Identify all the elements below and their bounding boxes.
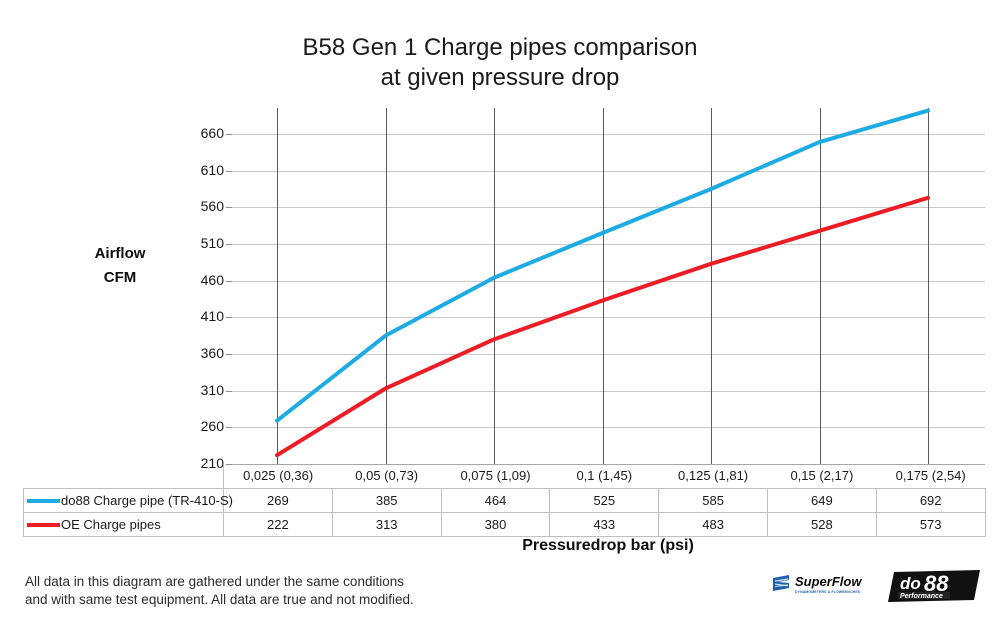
x-axis-title: Pressuredrop bar (psi) <box>230 537 986 555</box>
y-tick-label: 510 <box>186 235 224 251</box>
superflow-wordmark: SuperFlow <box>795 574 862 589</box>
superflow-tagline: DYNAMOMETERS & FLOWBENCHES <box>795 590 861 594</box>
legend-entry[interactable]: do88 Charge pipe (TR-410-S) <box>24 488 224 512</box>
y-tick-label: 460 <box>186 272 224 288</box>
y-axis-title-line-2: CFM <box>60 266 180 290</box>
table-cell: 313 <box>332 512 441 536</box>
table-cell: 573 <box>876 512 985 536</box>
table-row: do88 Charge pipe (TR-410-S)2693854645255… <box>24 488 986 512</box>
do88-tagline: Performance <box>900 593 943 600</box>
legend-label: do88 Charge pipe (TR-410-S) <box>61 493 233 508</box>
table-cell: 269 <box>224 488 333 512</box>
table-cell: 385 <box>332 488 441 512</box>
plot-area <box>232 108 985 464</box>
y-tick-label: 660 <box>186 125 224 141</box>
series-lines <box>232 94 985 474</box>
y-tick-label: 410 <box>186 308 224 324</box>
table-cell: 464 <box>441 488 550 512</box>
table-header-corner <box>24 464 224 488</box>
table-cell: 528 <box>767 512 876 536</box>
do88-logo: do 88 Performance <box>888 570 980 602</box>
table-cell: 525 <box>550 488 659 512</box>
table-header-row: 0,025 (0,36)0,05 (0,73)0,075 (1,09)0,1 (… <box>24 464 986 488</box>
legend-entry[interactable]: OE Charge pipes <box>24 512 224 536</box>
table-cell: 380 <box>441 512 550 536</box>
table-cell: 222 <box>224 512 333 536</box>
table-row: OE Charge pipes222313380433483528573 <box>24 512 986 536</box>
data-table: 0,025 (0,36)0,05 (0,73)0,075 (1,09)0,1 (… <box>23 464 986 537</box>
table-header-cell: 0,075 (1,09) <box>441 464 550 488</box>
y-axis-title: Airflow CFM <box>60 242 180 290</box>
y-axis-title-line-1: Airflow <box>60 242 180 266</box>
table-header-cell: 0,025 (0,36) <box>224 464 333 488</box>
superflow-mark-icon <box>773 575 789 591</box>
table-header-cell: 0,175 (2,54) <box>876 464 985 488</box>
y-tick-label: 560 <box>186 198 224 214</box>
table-cell: 433 <box>550 512 659 536</box>
y-tick-label: 260 <box>186 418 224 434</box>
page-title: B58 Gen 1 Charge pipes comparison at giv… <box>0 33 1000 93</box>
footer-note-line-1: All data in this diagram are gathered un… <box>25 573 414 591</box>
chart-title-line-1: B58 Gen 1 Charge pipes comparison <box>0 33 1000 63</box>
series-line-do88 <box>277 111 928 421</box>
table-header-cell: 0,15 (2,17) <box>767 464 876 488</box>
y-tick-label: 360 <box>186 345 224 361</box>
y-tick-label: 610 <box>186 162 224 178</box>
chart-page: B58 Gen 1 Charge pipes comparison at giv… <box>0 0 1000 623</box>
table-header-cell: 0,125 (1,81) <box>659 464 768 488</box>
table-header-cell: 0,05 (0,73) <box>332 464 441 488</box>
do88-wordmark-do: do <box>900 574 921 593</box>
footer-note: All data in this diagram are gathered un… <box>25 573 414 609</box>
series-line-oe <box>277 198 928 455</box>
table-cell: 692 <box>876 488 985 512</box>
table-header-cell: 0,1 (1,45) <box>550 464 659 488</box>
table-cell: 649 <box>767 488 876 512</box>
legend-label: OE Charge pipes <box>61 517 161 532</box>
superflow-logo: SuperFlow DYNAMOMETERS & FLOWBENCHES <box>771 572 875 600</box>
table-cell: 483 <box>659 512 768 536</box>
footer-note-line-2: and with same test equipment. All data a… <box>25 591 414 609</box>
legend-swatch-icon <box>27 499 60 503</box>
chart-title-line-2: at given pressure drop <box>0 63 1000 93</box>
y-tick-label: 310 <box>186 382 224 398</box>
legend-swatch-icon <box>27 523 60 527</box>
table-cell: 585 <box>659 488 768 512</box>
